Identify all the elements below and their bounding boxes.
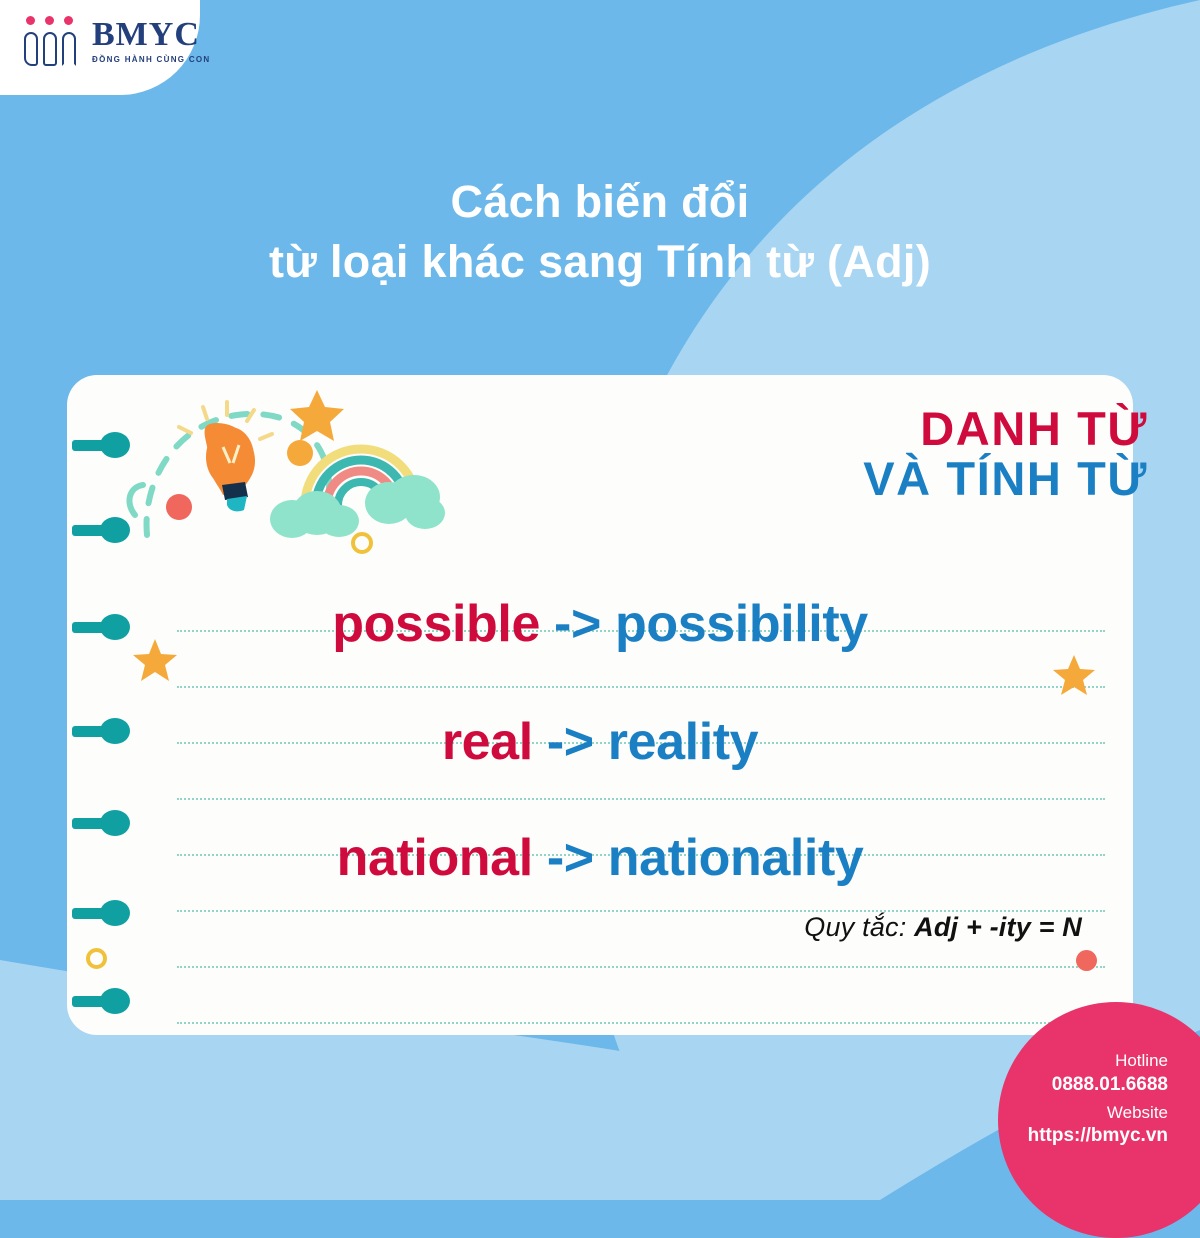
- word-noun: nationality: [608, 829, 864, 887]
- brand-name: BMYC: [92, 18, 211, 52]
- hotline-label: Hotline: [988, 1050, 1168, 1072]
- rule-plus: +: [966, 912, 982, 942]
- word-pair-row: real -> reality: [67, 712, 1133, 772]
- dot-icon: [1076, 950, 1097, 971]
- arrow-icon: ->: [547, 713, 594, 771]
- dot-icon: [287, 440, 313, 466]
- card-heading: DANH TỪ VÀ TÍNH TỪ: [863, 404, 1148, 504]
- rule-label: Quy tắc:: [804, 912, 906, 942]
- page-title: Cách biến đổi từ loại khác sang Tính từ …: [0, 172, 1200, 292]
- decoration-cluster: [117, 385, 467, 565]
- arrow-icon: ->: [554, 595, 601, 653]
- website-label: Website: [988, 1102, 1168, 1124]
- word-noun: possibility: [615, 595, 868, 653]
- word-adjective: national: [337, 829, 533, 887]
- star-icon: [290, 390, 344, 441]
- contact-badge-content: Hotline 0888.01.6688 Website https://bmy…: [988, 1050, 1168, 1154]
- three-people-bookmark-icon: [24, 16, 82, 66]
- rule-equals: =: [1039, 912, 1055, 942]
- dot-icon: [166, 494, 192, 520]
- rule-result: N: [1062, 912, 1082, 942]
- rule-formula-left: Adj: [914, 912, 958, 942]
- card-heading-noun: DANH TỪ: [863, 404, 1148, 454]
- word-pair-row: national -> nationality: [67, 828, 1133, 888]
- word-adjective: real: [442, 713, 533, 771]
- binding-ring: [72, 432, 130, 458]
- ring-icon: [353, 534, 371, 552]
- page-title-line-2: từ loại khác sang Tính từ (Adj): [0, 232, 1200, 292]
- website-value[interactable]: https://bmyc.vn: [988, 1124, 1168, 1149]
- word-noun: reality: [608, 713, 758, 771]
- hotline-value: 0888.01.6688: [988, 1073, 1168, 1098]
- binding-ring: [72, 900, 130, 926]
- page-title-line-1: Cách biến đổi: [0, 172, 1200, 232]
- ring-icon: [86, 948, 107, 969]
- binding-ring: [72, 517, 130, 543]
- brand-tagline: ĐỒNG HÀNH CÙNG CON: [92, 55, 211, 64]
- lightbulb-icon: [179, 402, 272, 511]
- brand-logo[interactable]: BMYC ĐỒNG HÀNH CÙNG CON: [24, 16, 211, 66]
- word-pair-row: possible -> possibility: [67, 594, 1133, 654]
- rule-suffix: -ity: [990, 912, 1031, 942]
- dashed-orbit-small-icon: [129, 485, 143, 515]
- star-icon: [1052, 653, 1096, 697]
- rule-note: Quy tắc: Adj + -ity = N: [804, 912, 1082, 943]
- card-heading-adjective: VÀ TÍNH TỪ: [863, 454, 1148, 504]
- binding-ring: [72, 988, 130, 1014]
- arrow-icon: ->: [547, 829, 594, 887]
- word-adjective: possible: [332, 595, 540, 653]
